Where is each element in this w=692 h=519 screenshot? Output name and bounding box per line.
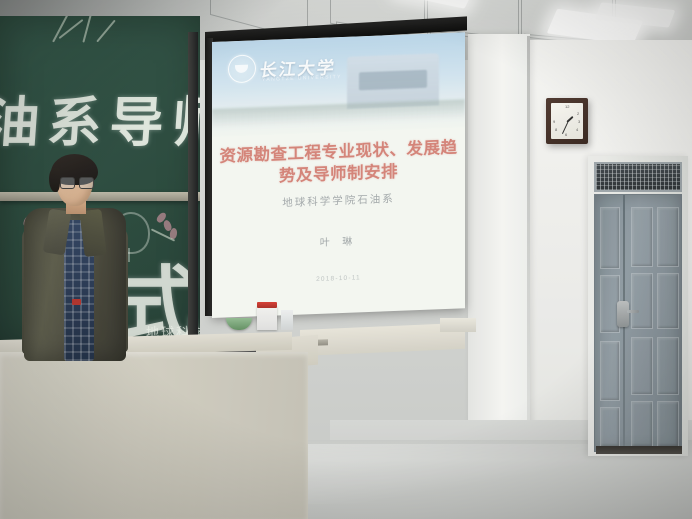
door-transom-window xyxy=(594,162,682,192)
blackboard-frame xyxy=(188,32,198,346)
transom-grille xyxy=(596,164,680,190)
projected-slide: 长江大学 YANGTZE UNIVERSITY 资源勘查工程专业现状、发展趋势及… xyxy=(212,32,465,318)
slide-author: 叶 琳 xyxy=(212,228,465,253)
slide-date: 2018-10-11 xyxy=(212,270,465,287)
door-handle[interactable] xyxy=(617,301,629,327)
university-seal-icon xyxy=(228,54,256,83)
desk-cup xyxy=(281,310,293,330)
slide-title: 资源勘查工程专业现状、发展趋势及导师制安排 xyxy=(212,136,465,190)
classroom-photo: 油系导师组 式 乂 地球科学学 2019年 长江大学 YANGTZE UNIVE… xyxy=(0,0,692,519)
slide-subtitle: 地球科学学院石油系 xyxy=(212,188,465,213)
door-threshold xyxy=(596,446,682,454)
classroom-door[interactable] xyxy=(594,194,682,452)
presenter-hair-side xyxy=(49,168,60,192)
pillar-edge xyxy=(527,36,530,464)
clock-face: 12 2 3 4 6 8 9 xyxy=(551,103,583,139)
tissue-box xyxy=(257,306,277,330)
presenter xyxy=(16,146,136,361)
slide-header-band: 长江大学 YANGTZE UNIVERSITY xyxy=(212,32,465,137)
slide-tree-row xyxy=(212,99,465,129)
chalk-grass-drawing xyxy=(82,16,93,43)
wall-clock: 12 2 3 4 6 8 9 xyxy=(546,98,588,144)
projector-screen: 长江大学 YANGTZE UNIVERSITY 资源勘查工程专业现状、发展趋势及… xyxy=(205,32,467,317)
presenter-badge xyxy=(72,299,81,305)
lectern xyxy=(0,352,308,519)
chalk-grass-drawing xyxy=(96,20,116,43)
wall-pillar xyxy=(468,34,530,464)
glasses-icon xyxy=(60,177,92,187)
tissue-box-lid xyxy=(257,302,277,308)
desk-equipment xyxy=(440,318,476,332)
